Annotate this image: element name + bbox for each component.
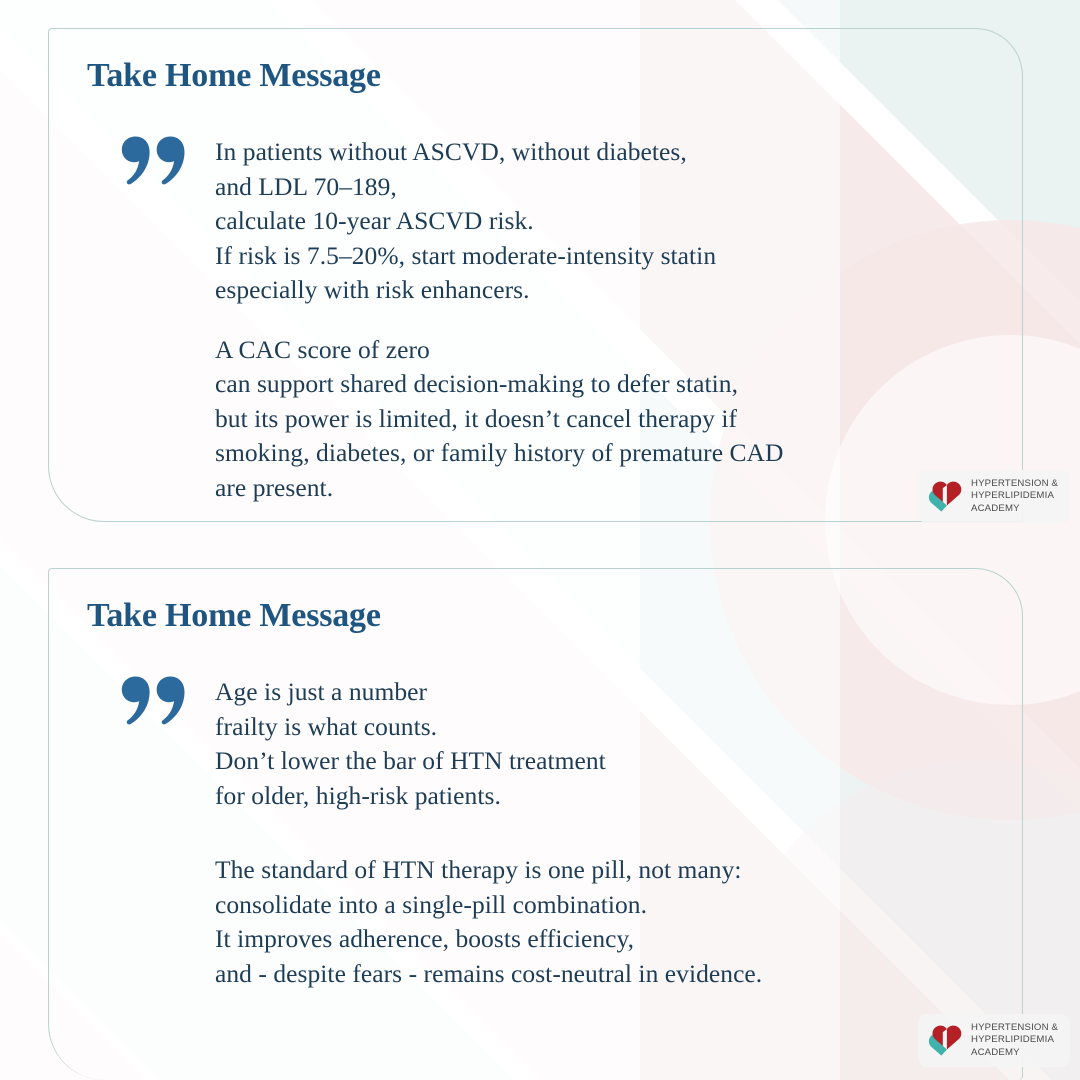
- quote-line: The standard of HTN therapy is one pill,…: [215, 853, 982, 888]
- academy-logo-badge: HYPERTENSION & HYPERLIPIDEMIA ACADEMY: [918, 1014, 1070, 1067]
- quote-line: calculate 10-year ASCVD risk.: [215, 204, 982, 239]
- quote-paragraph: In patients without ASCVD, without diabe…: [215, 135, 982, 308]
- logo-line: HYPERTENSION &: [971, 478, 1058, 490]
- quote-block: Age is just a number frailty is what cou…: [85, 675, 982, 991]
- quote-line: Don’t lower the bar of HTN treatment: [215, 744, 982, 779]
- logo-line: HYPERLIPIDEMIA: [971, 490, 1058, 502]
- quote-line: consolidate into a single-pill combinati…: [215, 888, 982, 923]
- quote-line: but its power is limited, it doesn’t can…: [215, 402, 982, 437]
- quote-line: In patients without ASCVD, without diabe…: [215, 135, 982, 170]
- quote-line: Age is just a number: [215, 675, 982, 710]
- quote-line: If risk is 7.5–20%, start moderate-inten…: [215, 239, 982, 274]
- quote-paragraph: A CAC score of zero can support shared d…: [215, 333, 982, 506]
- quote-body: In patients without ASCVD, without diabe…: [215, 135, 982, 505]
- quote-line: It improves adherence, boosts efficiency…: [215, 922, 982, 957]
- take-home-message-card: Take Home Message In patients without AS…: [48, 28, 1023, 522]
- academy-logo-text: HYPERTENSION & HYPERLIPIDEMIA ACADEMY: [971, 478, 1058, 515]
- quote-line: for older, high-risk patients.: [215, 779, 982, 814]
- quote-line: A CAC score of zero: [215, 333, 982, 368]
- double-quote-icon: [121, 135, 185, 187]
- logo-line: HYPERLIPIDEMIA: [971, 1034, 1058, 1046]
- take-home-message-card: Take Home Message Age is just a number f…: [48, 568, 1023, 1080]
- quote-line: especially with risk enhancers.: [215, 273, 982, 308]
- page-title: Take Home Message: [87, 597, 982, 635]
- quote-line: and LDL 70–189,: [215, 170, 982, 205]
- heart-logo-icon: [928, 481, 962, 512]
- quote-line: can support shared decision-making to de…: [215, 367, 982, 402]
- page-title: Take Home Message: [87, 57, 982, 95]
- quote-body: Age is just a number frailty is what cou…: [215, 675, 982, 991]
- quote-line: smoking, diabetes, or family history of …: [215, 436, 982, 471]
- academy-logo-text: HYPERTENSION & HYPERLIPIDEMIA ACADEMY: [971, 1022, 1058, 1059]
- quote-paragraph: Age is just a number frailty is what cou…: [215, 675, 982, 813]
- logo-line: HYPERTENSION &: [971, 1022, 1058, 1034]
- quote-line: frailty is what counts.: [215, 710, 982, 745]
- logo-line: ACADEMY: [971, 503, 1058, 515]
- quote-paragraph: The standard of HTN therapy is one pill,…: [215, 853, 982, 991]
- quote-block: In patients without ASCVD, without diabe…: [85, 135, 982, 505]
- logo-line: ACADEMY: [971, 1047, 1058, 1059]
- quote-line: and - despite fears - remains cost-neutr…: [215, 957, 982, 992]
- academy-logo-badge: HYPERTENSION & HYPERLIPIDEMIA ACADEMY: [918, 470, 1070, 523]
- heart-logo-icon: [928, 1025, 962, 1056]
- quote-line: are present.: [215, 471, 982, 506]
- double-quote-icon: [121, 675, 185, 727]
- slide-stack: Take Home Message In patients without AS…: [0, 0, 1080, 1080]
